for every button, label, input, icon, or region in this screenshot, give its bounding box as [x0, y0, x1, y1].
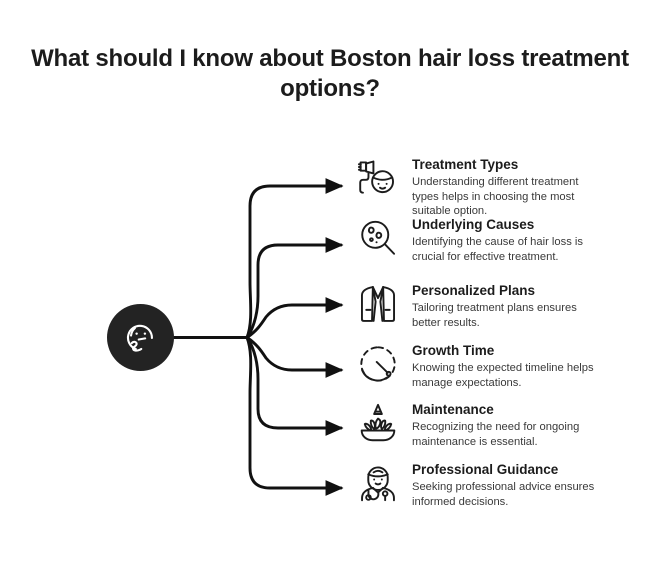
branch-heading: Underlying Causes	[412, 216, 656, 233]
branch-text-block: Maintenance Recognizing the need for ong…	[412, 401, 656, 449]
lotus-bowl-icon	[356, 401, 400, 445]
branch-heading: Personalized Plans	[412, 282, 656, 299]
branch-item-underlying-causes[interactable]: Underlying Causes Identifying the cause …	[356, 216, 656, 264]
branch-heading: Treatment Types	[412, 156, 656, 173]
branch-heading: Growth Time	[412, 342, 656, 359]
branch-description: Seeking professional advice ensures info…	[412, 480, 608, 509]
connector-branch-6	[247, 338, 341, 489]
thinking-face-icon	[122, 319, 160, 357]
branch-text-block: Treatment Types Understanding different …	[412, 156, 656, 219]
branch-item-personalized-plans[interactable]: Personalized Plans Tailoring treatment p…	[356, 282, 656, 330]
connector-branch-1	[247, 186, 341, 338]
infographic-canvas: What should I know about Boston hair los…	[0, 0, 660, 588]
doctor-stethoscope-icon	[356, 461, 400, 505]
branch-text-block: Personalized Plans Tailoring treatment p…	[412, 282, 656, 330]
branch-description: Identifying the cause of hair loss is cr…	[412, 235, 608, 264]
branch-item-treatment-types[interactable]: Treatment Types Understanding different …	[356, 156, 656, 219]
branch-description: Recognizing the need for ongoing mainten…	[412, 420, 608, 449]
branch-description: Understanding different treatment types …	[412, 175, 608, 219]
hub-node[interactable]	[107, 304, 174, 371]
connector-branch-3	[247, 305, 341, 338]
branch-item-professional-guidance[interactable]: Professional Guidance Seeking profession…	[356, 461, 656, 509]
branch-heading: Maintenance	[412, 401, 656, 418]
magnifying-glass-follicles-icon	[356, 216, 400, 260]
hair-dryer-face-icon	[356, 156, 400, 200]
suit-jacket-icon	[356, 282, 400, 326]
branch-description: Knowing the expected timeline helps mana…	[412, 361, 608, 390]
branch-item-growth-time[interactable]: Growth Time Knowing the expected timelin…	[356, 342, 656, 390]
connector-branch-4	[247, 338, 341, 371]
dashed-clock-icon	[356, 342, 400, 386]
branch-item-maintenance[interactable]: Maintenance Recognizing the need for ong…	[356, 401, 656, 449]
branch-text-block: Underlying Causes Identifying the cause …	[412, 216, 656, 264]
branch-description: Tailoring treatment plans ensures better…	[412, 301, 608, 330]
branch-text-block: Growth Time Knowing the expected timelin…	[412, 342, 656, 390]
branch-heading: Professional Guidance	[412, 461, 656, 478]
branch-text-block: Professional Guidance Seeking profession…	[412, 461, 656, 509]
